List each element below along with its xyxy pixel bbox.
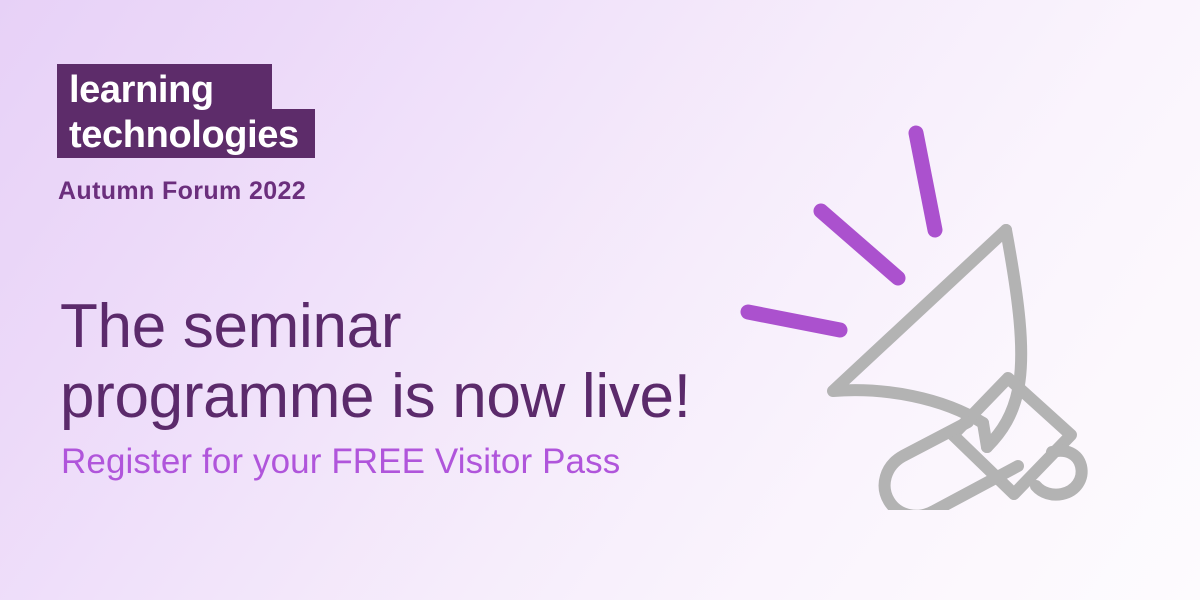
event-name-subtitle: Autumn Forum 2022 (58, 177, 306, 206)
learning-technologies-logo: learning technologies (57, 64, 315, 158)
megaphone-icon (700, 90, 1140, 510)
megaphone-cone (833, 230, 1021, 447)
sound-wave-2 (821, 211, 898, 278)
megaphone-sound-waves (748, 133, 935, 330)
headline-line-2: programme is now live! (60, 362, 760, 432)
logo-text-line-2: technologies (69, 116, 299, 154)
headline-line-1: The seminar (60, 292, 760, 362)
call-to-action-text: Register for your FREE Visitor Pass (61, 440, 620, 484)
logo-text-line-1: learning (69, 71, 214, 109)
promo-banner: learning technologies Autumn Forum 2022 … (0, 0, 1200, 600)
headline: The seminar programme is now live! (60, 292, 760, 432)
sound-wave-3 (748, 312, 840, 330)
megaphone-illustration (700, 90, 1140, 510)
sound-wave-1 (916, 133, 935, 230)
